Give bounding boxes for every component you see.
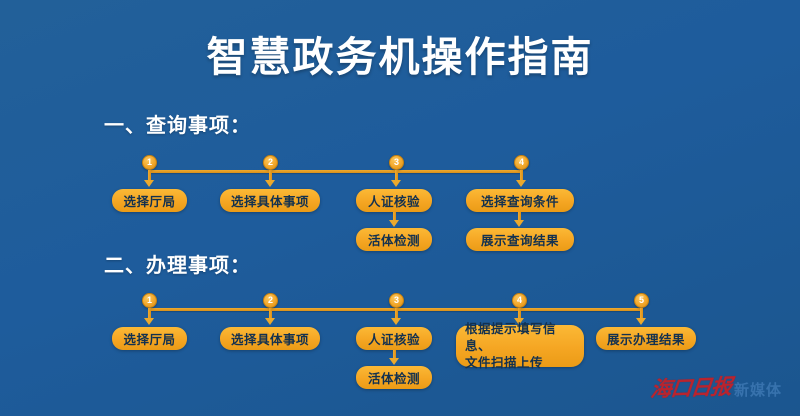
step-box-2-3-a[interactable]: 人证核验 [356, 327, 432, 350]
poster-canvas: 智慧政务机操作指南 一、查询事项： 1 选择厅局 2 选择具体事项 3 人证核验… [0, 0, 800, 416]
step-box-2-5-a[interactable]: 展示办理结果 [596, 327, 696, 350]
step-circle-2-1: 1 [142, 293, 157, 308]
watermark-subbrand: 新媒体 [734, 379, 782, 400]
step-circle-2-4: 4 [512, 293, 527, 308]
step-box-2-1-a[interactable]: 选择厅局 [112, 327, 187, 350]
step-box-2-4-line-1: 根据提示填写信息、 [465, 321, 575, 355]
step-box-2-4-line-2: 文件扫描上传 [465, 355, 575, 372]
step-box-2-4-a[interactable]: 根据提示填写信息、 文件扫描上传 [456, 325, 584, 367]
step-box-2-3-b[interactable]: 活体检测 [356, 366, 432, 389]
step-arrow-2-3-b [389, 358, 399, 365]
step-arrow-2-3 [391, 318, 401, 325]
step-arrow-2-2 [265, 318, 275, 325]
watermark-logo: 海口日报 新媒体 [651, 372, 782, 402]
flow-diagram-handle: 1 选择厅局 2 选择具体事项 3 人证核验 活体检测 4 根据提示填写信息、 … [0, 0, 800, 416]
step-box-2-2-a[interactable]: 选择具体事项 [220, 327, 320, 350]
step-arrow-2-5 [636, 318, 646, 325]
step-circle-2-2: 2 [263, 293, 278, 308]
step-circle-2-5: 5 [634, 293, 649, 308]
watermark-brand: 海口日报 [649, 371, 733, 404]
step-circle-2-3: 3 [389, 293, 404, 308]
step-arrow-2-1 [144, 318, 154, 325]
